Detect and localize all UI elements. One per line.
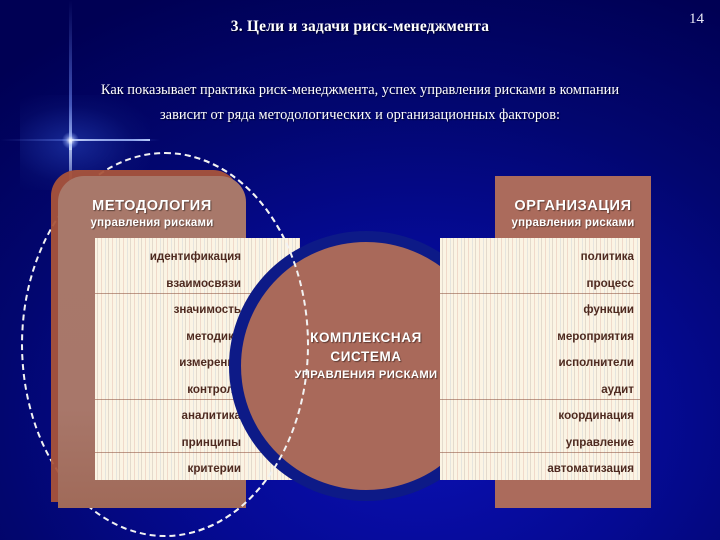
- list-item: автоматизация: [474, 454, 640, 484]
- subtitle-line-1: Как показывает практика риск-менеджмента…: [101, 82, 619, 98]
- list-separator: [440, 293, 640, 294]
- sparkle-icon: [62, 132, 79, 149]
- list-item: координация: [474, 401, 640, 431]
- list-separator: [440, 452, 640, 453]
- list-item: функции: [474, 295, 640, 325]
- list-item: политика: [474, 242, 640, 272]
- list-item: управление: [474, 428, 640, 458]
- right-panel-heading: ОРГАНИЗАЦИЯ управления рисками: [470, 198, 676, 229]
- list-item: мероприятия: [474, 322, 640, 352]
- right-panel-list: политикапроцессфункциимероприятияисполни…: [440, 238, 640, 480]
- slide-subtitle: Как показывает практика риск-менеджмента…: [28, 78, 692, 128]
- list-separator: [440, 399, 640, 400]
- right-panel-heading-main: ОРГАНИЗАЦИЯ: [470, 198, 676, 214]
- list-item: аудит: [474, 375, 640, 405]
- right-panel-heading-sub: управления рисками: [470, 217, 676, 229]
- list-item: исполнители: [474, 348, 640, 378]
- list-item: процесс: [474, 269, 640, 299]
- subtitle-line-2: зависит от ряда методологических и орган…: [28, 103, 692, 128]
- light-beam-horizontal-right: [70, 139, 160, 141]
- page-title: 3. Цели и задачи риск-менеджмента: [0, 18, 720, 36]
- slide-canvas: 14 3. Цели и задачи риск-менеджмента Как…: [0, 0, 720, 540]
